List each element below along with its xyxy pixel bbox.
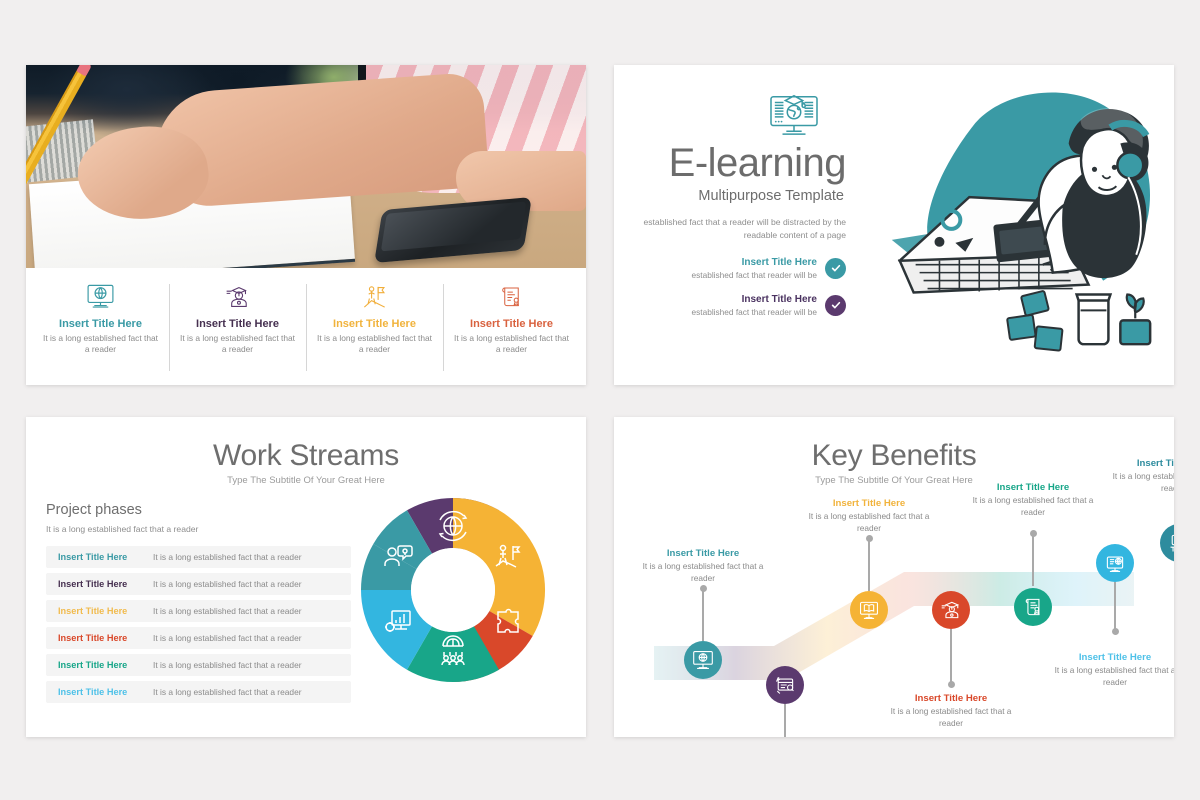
list-item-desc: It is a long established fact that a rea… xyxy=(153,660,302,670)
list-item[interactable]: Insert Title Here It is a long establish… xyxy=(46,600,351,622)
page-subtitle: Type The Subtitle Of Your Great Here xyxy=(26,475,586,486)
bullet-title: Insert Title Here xyxy=(692,257,817,268)
bullet-item-2[interactable]: Insert Title Here established fact that … xyxy=(632,294,846,317)
hero-photo xyxy=(26,65,586,268)
step-title: Insert Title Here xyxy=(1108,458,1174,469)
feature-title: Insert Title Here xyxy=(177,318,298,330)
monitor-graduation-globe-icon xyxy=(632,91,846,137)
page-title: Key Benefits xyxy=(614,417,1174,473)
e-learning-text-column: E-learning Multipurpose Template establi… xyxy=(614,65,856,385)
step-desc: It is a long established fact that a rea… xyxy=(1108,471,1174,494)
list-item-desc: It is a long established fact that a rea… xyxy=(153,579,302,589)
feature-desc: It is a long established fact that a rea… xyxy=(314,333,435,356)
bullet-title: Insert Title Here xyxy=(692,294,817,305)
step-label-4: Insert Title Here It is a long establish… xyxy=(886,693,1016,729)
donut-chart[interactable] xyxy=(353,490,553,690)
list-item-title: Insert Title Here xyxy=(58,552,144,562)
feature-item-1[interactable]: Insert Title Here It is a long establish… xyxy=(32,280,169,375)
feature-desc: It is a long established fact that a rea… xyxy=(451,333,572,356)
key-benefits-body: Insert Title Here It is a long establish… xyxy=(614,486,1174,734)
bullet-text: Insert Title Here established fact that … xyxy=(692,257,817,280)
e-learning-illustration xyxy=(856,65,1174,385)
feature-item-4[interactable]: Insert Title Here It is a long establish… xyxy=(443,280,580,375)
slide-photo-features[interactable]: Insert Title Here It is a long establish… xyxy=(26,65,586,385)
step-title: Insert Title Here xyxy=(638,548,768,559)
donut-chart-column xyxy=(351,502,568,708)
slide-e-learning[interactable]: E-learning Multipurpose Template establi… xyxy=(614,65,1174,385)
list-item[interactable]: Insert Title Here It is a long establish… xyxy=(46,573,351,595)
step-title: Insert Title Here xyxy=(804,498,934,509)
list-item-title: Insert Title Here xyxy=(58,660,144,670)
list-item-title: Insert Title Here xyxy=(58,579,144,589)
page-title: Work Streams xyxy=(26,417,586,473)
feature-title: Insert Title Here xyxy=(314,318,435,330)
step-label-3: Insert Title Here It is a long establish… xyxy=(804,498,934,534)
list-item-desc: It is a long established fact that a rea… xyxy=(153,633,302,643)
check-circle-icon xyxy=(825,295,846,316)
check-circle-icon xyxy=(825,258,846,279)
list-item-title: Insert Title Here xyxy=(58,633,144,643)
slide-key-benefits[interactable]: Key Benefits Type The Subtitle Of Your G… xyxy=(614,417,1174,737)
section-heading: Project phases xyxy=(46,502,351,518)
step-label-5: Insert Title Here It is a long establish… xyxy=(968,482,1098,518)
bullet-desc: established fact that reader will be xyxy=(692,307,817,317)
step-label-6: Insert Title Here It is a long establish… xyxy=(1050,652,1174,688)
feature-item-3[interactable]: Insert Title Here It is a long establish… xyxy=(306,280,443,375)
step-desc: It is a long established fact that a rea… xyxy=(1050,665,1174,688)
bullet-item-1[interactable]: Insert Title Here established fact that … xyxy=(632,257,846,280)
work-streams-body: Project phases It is a long established … xyxy=(26,486,586,708)
bullet-desc: established fact that reader will be xyxy=(692,270,817,280)
bullet-text: Insert Title Here established fact that … xyxy=(692,294,817,317)
slide-work-streams[interactable]: Work Streams Type The Subtitle Of Your G… xyxy=(26,417,586,737)
step-label-1: Insert Title Here It is a long establish… xyxy=(638,548,768,584)
feature-row: Insert Title Here It is a long establish… xyxy=(26,268,586,385)
step-desc: It is a long established fact that a rea… xyxy=(638,561,768,584)
step-title: Insert Title Here xyxy=(1050,652,1174,663)
list-item[interactable]: Insert Title Here It is a long establish… xyxy=(46,654,351,676)
page-subtitle: Multipurpose Template xyxy=(632,188,846,204)
page-title: E-learning xyxy=(632,143,846,183)
phases-column: Project phases It is a long established … xyxy=(46,502,351,708)
step-desc: It is a long established fact that a rea… xyxy=(968,495,1098,518)
list-item-desc: It is a long established fact that a rea… xyxy=(153,552,302,562)
list-item-desc: It is a long established fact that a rea… xyxy=(153,606,302,616)
step-labels: Insert Title Here It is a long establish… xyxy=(614,486,1174,734)
feature-title: Insert Title Here xyxy=(40,318,161,330)
list-item-title: Insert Title Here xyxy=(58,606,144,616)
graduate-person-icon xyxy=(177,280,298,314)
phase-list: Insert Title Here It is a long establish… xyxy=(46,546,351,703)
step-title: Insert Title Here xyxy=(968,482,1098,493)
list-item-title: Insert Title Here xyxy=(58,687,144,697)
slide-deck: Insert Title Here It is a long establish… xyxy=(0,0,1200,800)
step-title: Insert Title Here xyxy=(886,693,1016,704)
list-item-desc: It is a long established fact that a rea… xyxy=(153,687,302,697)
list-item[interactable]: Insert Title Here It is a long establish… xyxy=(46,546,351,568)
person-flag-goal-icon xyxy=(314,280,435,314)
monitor-globe-icon xyxy=(40,280,161,314)
feature-desc: It is a long established fact that a rea… xyxy=(40,333,161,356)
feature-item-2[interactable]: Insert Title Here It is a long establish… xyxy=(169,280,306,375)
feature-title: Insert Title Here xyxy=(451,318,572,330)
step-desc: It is a long established fact that a rea… xyxy=(804,511,934,534)
certificate-scroll-icon xyxy=(451,280,572,314)
intro-paragraph: established fact that a reader will be d… xyxy=(632,216,846,243)
step-desc: It is a long established fact that a rea… xyxy=(886,706,1016,729)
feature-desc: It is a long established fact that a rea… xyxy=(177,333,298,356)
section-subheading: It is a long established fact that a rea… xyxy=(46,524,351,534)
list-item[interactable]: Insert Title Here It is a long establish… xyxy=(46,627,351,649)
step-label-7: Insert Title Here It is a long establish… xyxy=(1108,458,1174,494)
list-item[interactable]: Insert Title Here It is a long establish… xyxy=(46,681,351,703)
